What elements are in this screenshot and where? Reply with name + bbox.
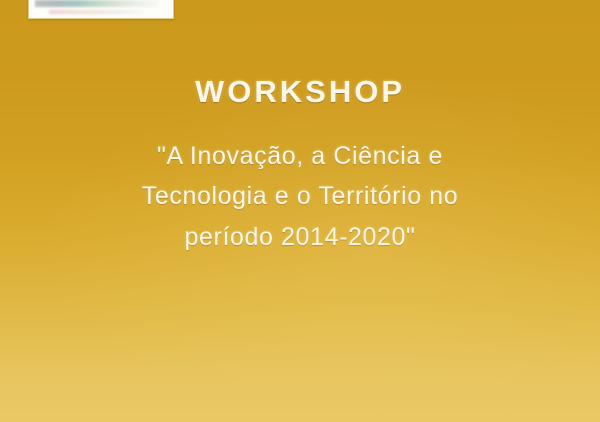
slide-subtitle: "A Inovação, a Ciência e Tecnologia e o … [24,136,576,258]
logo-banner-graphic [35,0,159,7]
slide-heading: WORKSHOP [24,74,576,110]
presentation-slide: WORKSHOP "A Inovação, a Ciência e Tecnol… [0,0,600,422]
logo-image-box [28,0,174,19]
slide-subtitle-line-1: "A Inovação, a Ciência e [24,136,576,177]
logo-secondary-graphic [49,10,145,14]
slide-text-block: WORKSHOP "A Inovação, a Ciência e Tecnol… [0,74,600,257]
slide-subtitle-line-3: período 2014-2020" [24,217,576,258]
slide-subtitle-line-2: Tecnologia e o Território no [24,176,576,217]
